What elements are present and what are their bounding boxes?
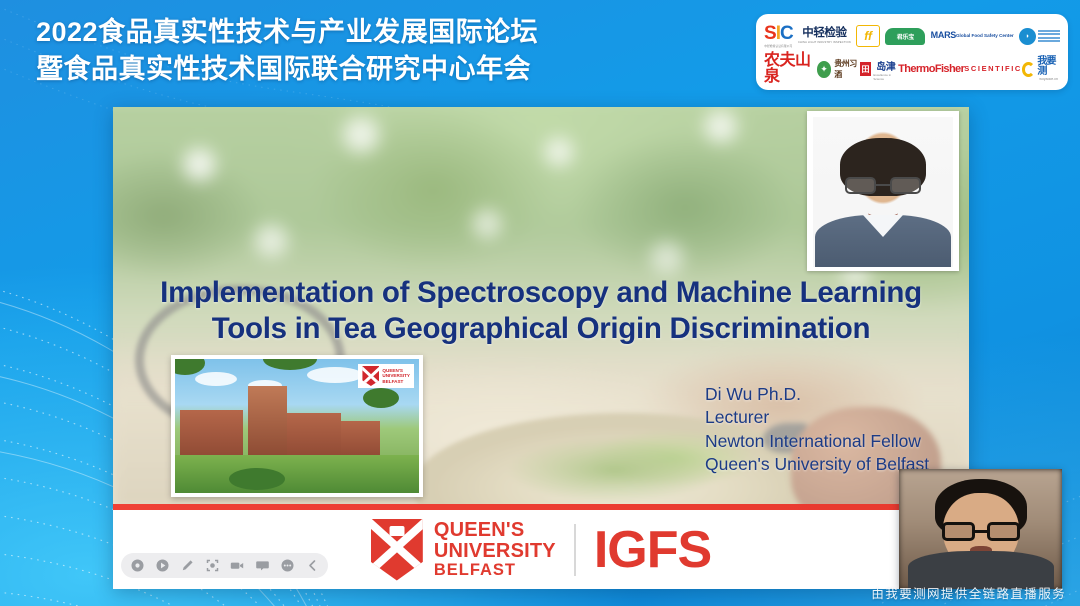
- sponsor-logo-zhongqing-jianyan: 中轻检验 CHINA LIGHT INDUSTRY INSPECTION: [798, 21, 851, 51]
- livestream-stage: 2022食品真实性技术与产业发展国际论坛 暨食品真实性技术国际联合研究中心年会 …: [0, 0, 1080, 606]
- video-player[interactable]: Implementation of Spectroscopy and Machi…: [113, 107, 969, 589]
- qub-line1: QUEEN'S: [434, 520, 556, 541]
- sponsor-logo-sic: SIC 中轻检验认证有限公司: [764, 21, 793, 51]
- building-wing-right: [287, 413, 341, 459]
- mars-sublabel: Global Food Safety Center: [956, 34, 1014, 39]
- danone-bars-icon: [1038, 30, 1060, 42]
- building-tower: [248, 386, 287, 458]
- sponsor-logo-thermo-fisher: ThermoFisher SCIENTIFIC: [898, 54, 1022, 84]
- video-camera-icon[interactable]: [230, 559, 244, 573]
- sponsor-logo-nongfu-spring: 农夫山泉: [764, 54, 817, 84]
- pencil-icon[interactable]: [180, 559, 194, 573]
- campus-photo: QUEEN'S UNIVERSITY BELFAST: [171, 355, 423, 497]
- collapse-chevron-icon[interactable]: [305, 559, 319, 573]
- sponsor-logo-woyaoce: 我要测 woyaoce.cn: [1022, 54, 1060, 84]
- sic-letter-s: S: [764, 23, 776, 44]
- campus-lawn: [175, 455, 419, 493]
- leaf-icon: ✦: [817, 61, 831, 78]
- book-icon: [389, 526, 404, 536]
- sponsor-logo-guizhou-xijiu: ✦ 贵州习酒: [817, 54, 860, 84]
- record-icon[interactable]: [130, 559, 144, 573]
- tree-shape: [363, 388, 399, 408]
- woyaoce-label: 我要测: [1037, 57, 1060, 77]
- building-wing-left: [180, 410, 243, 458]
- qub-line2: UNIVERSITY: [434, 541, 556, 562]
- ff-mark: ff: [856, 25, 880, 47]
- sponsor-logo-danone: ◗: [1019, 21, 1060, 51]
- qub-shield-icon: [371, 519, 423, 581]
- qub-logo: QUEEN'S UNIVERSITY BELFAST: [371, 519, 556, 581]
- glasses-icon: [942, 522, 1020, 542]
- sponsor-logo-ff: ff: [856, 21, 880, 51]
- shimadzu-square-icon: 田: [860, 62, 872, 76]
- player-controls-toolbar[interactable]: [121, 553, 328, 578]
- guizhou-label: 贵州习酒: [834, 58, 859, 80]
- campus-logo-line3: BELFAST: [382, 379, 410, 384]
- sponsor-logo-mars: MARS Global Food Safety Center: [931, 21, 1014, 51]
- sponsor-row-1: SIC 中轻检验认证有限公司 中轻检验 CHINA LIGHT INDUSTRY…: [764, 21, 1060, 51]
- slide-red-divider: [113, 504, 969, 510]
- campus-image: QUEEN'S UNIVERSITY BELFAST: [175, 359, 419, 493]
- mars-label: MARS: [931, 31, 956, 40]
- sponsor-logo-panel: SIC 中轻检验认证有限公司 中轻检验 CHINA LIGHT INDUSTRY…: [756, 14, 1068, 90]
- woyaoce-circle-icon: [1022, 62, 1035, 77]
- sponsor-row-2: 农夫山泉 ✦ 贵州习酒 田 岛津 Excellence in Science T…: [764, 54, 1060, 84]
- thermo-sublabel: SCIENTIFIC: [964, 65, 1022, 73]
- thermo-label: ThermoFisher: [898, 64, 964, 75]
- logo-divider: [574, 524, 576, 576]
- campus-logo-line2: UNIVERSITY: [382, 373, 410, 378]
- focus-icon[interactable]: [205, 559, 219, 573]
- nongfu-label: 农夫山泉: [764, 53, 817, 85]
- portrait-photo: [813, 117, 953, 267]
- woyaoce-sublabel: woyaoce.cn: [1039, 77, 1057, 81]
- zhongqing-label: 中轻检验: [802, 28, 846, 40]
- sic-sublabel: 中轻检验认证有限公司: [764, 44, 792, 48]
- cloud-shape: [195, 372, 237, 386]
- tree-shape: [263, 359, 317, 370]
- glasses-icon: [845, 177, 921, 195]
- qub-shield-icon: [362, 366, 379, 386]
- live-speaker-video[interactable]: [899, 469, 1062, 589]
- slide-title: Implementation of Spectroscopy and Machi…: [143, 275, 939, 348]
- shimadzu-label: 岛津: [876, 58, 895, 73]
- sponsor-logo-junlebao: 君乐宝: [885, 21, 925, 51]
- tree-shape: [175, 359, 205, 375]
- sponsor-logo-shimadzu: 田 岛津 Excellence in Science: [860, 54, 899, 84]
- sic-letter-c: C: [780, 23, 793, 44]
- presentation-slide: Implementation of Spectroscopy and Machi…: [113, 107, 969, 510]
- building-far: [341, 421, 380, 459]
- chat-icon[interactable]: [255, 559, 269, 573]
- qub-line3: BELFAST: [434, 562, 556, 579]
- service-watermark: 由我要测网提供全链路直播服务: [871, 583, 1066, 602]
- igfs-logo: IGFS: [594, 524, 711, 576]
- event-title: 2022食品真实性技术与产业发展国际论坛 暨食品真实性技术国际联合研究中心年会: [36, 14, 538, 89]
- cloud-shape: [307, 367, 363, 383]
- more-icon[interactable]: [280, 559, 294, 573]
- campus-qub-logo: QUEEN'S UNIVERSITY BELFAST: [358, 364, 414, 388]
- junlebao-mark: 君乐宝: [885, 28, 925, 45]
- presenter-info: Di Wu Ph.D. Lecturer Newton Internationa…: [705, 383, 929, 476]
- presenter-portrait: [807, 111, 959, 271]
- play-icon[interactable]: [155, 559, 169, 573]
- page-header: 2022食品真实性技术与产业发展国际论坛 暨食品真实性技术国际联合研究中心年会 …: [0, 0, 1080, 104]
- danone-circle-icon: ◗: [1019, 28, 1036, 45]
- zhongqing-sublabel: CHINA LIGHT INDUSTRY INSPECTION: [798, 41, 851, 44]
- shimadzu-sublabel: Excellence in Science: [873, 73, 898, 81]
